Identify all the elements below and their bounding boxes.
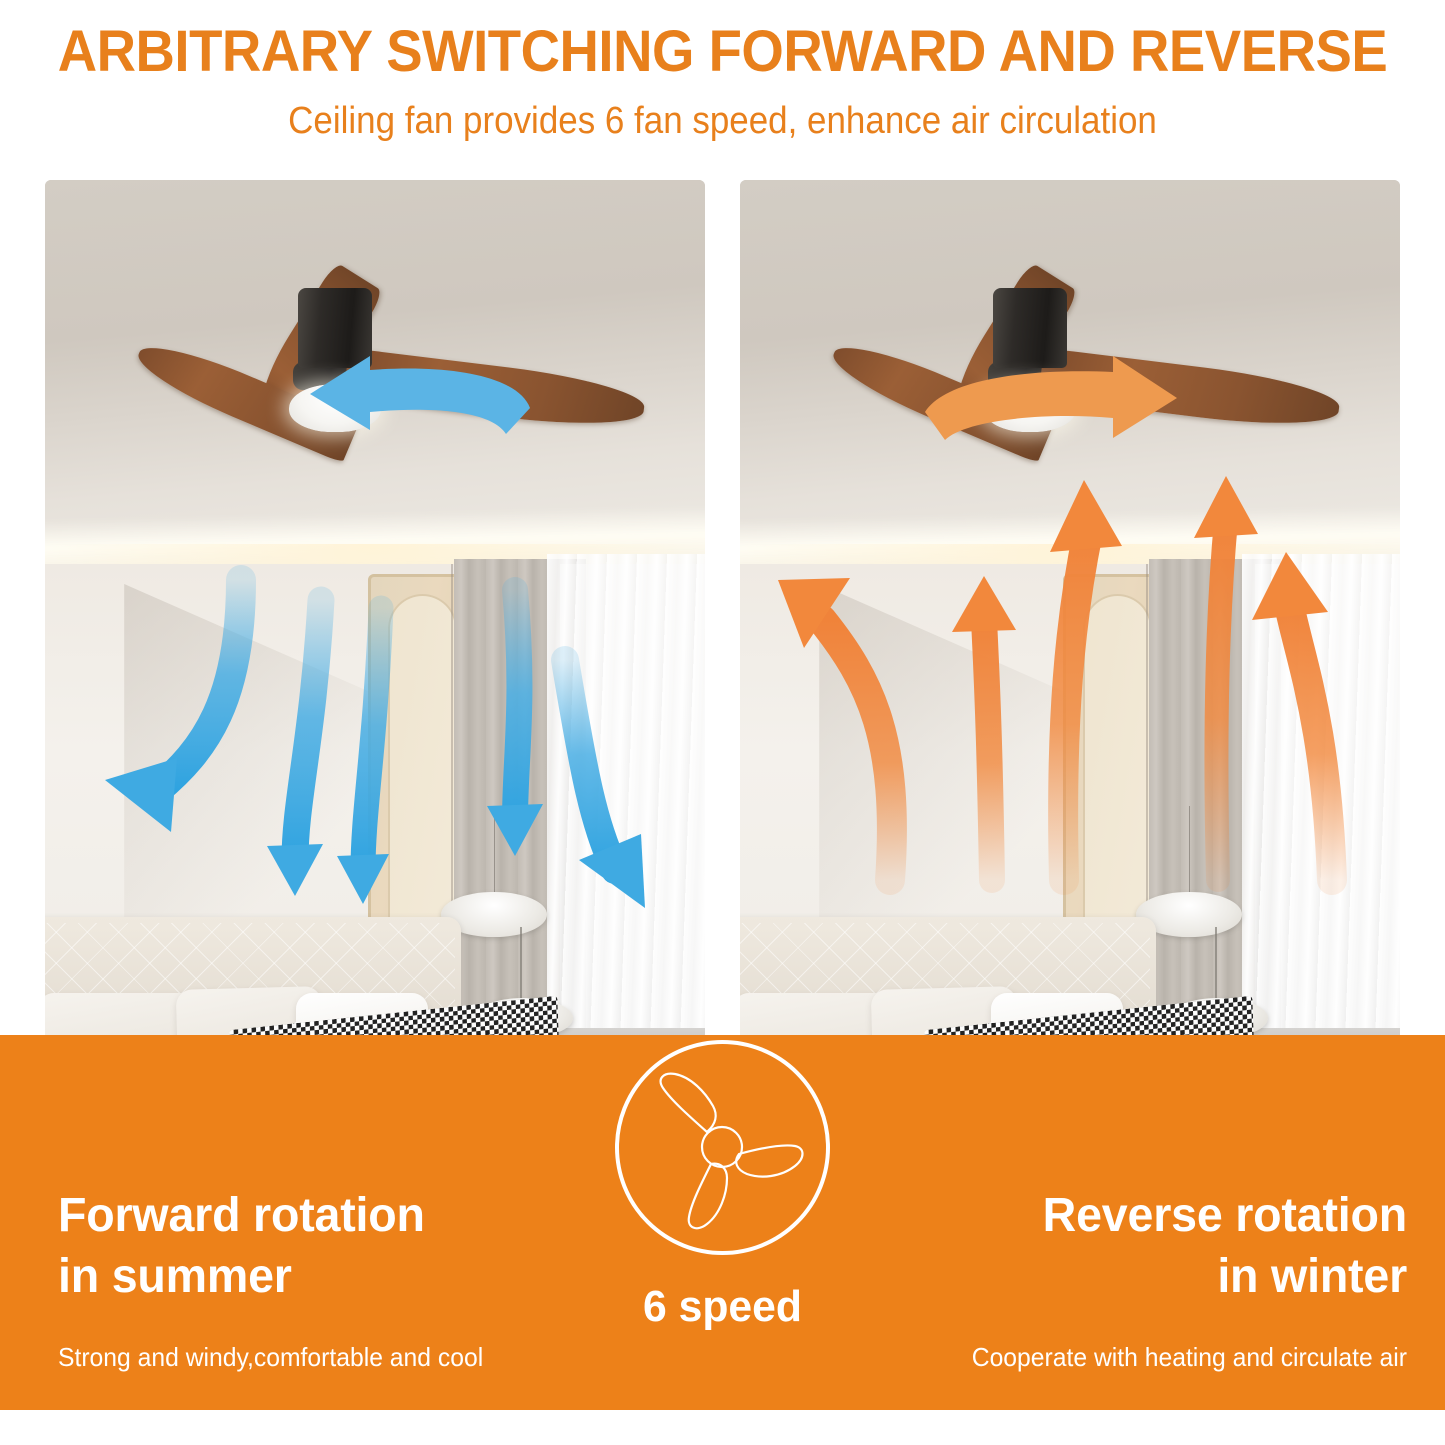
reverse-rotation-caption-block: Reverse rotation in winter Cooperate wit… [887, 1185, 1407, 1373]
page-title: ARBITRARY SWITCHING FORWARD AND REVERSE [43, 18, 1401, 85]
fan-blade-icon [619, 1044, 826, 1251]
speed-badge [615, 1040, 830, 1255]
forward-rotation-arrow-icon [200, 350, 550, 480]
pendant-cord-upper [1189, 806, 1191, 897]
page-subtitle: Ceiling fan provides 6 fan speed, enhanc… [58, 100, 1387, 143]
reverse-title-line1: Reverse rotation [903, 1185, 1407, 1246]
sheer-curtain [1242, 554, 1400, 1059]
pendant-cord-upper [494, 806, 496, 897]
pendant-cord-lower [1215, 927, 1217, 1008]
speed-label: 6 speed [22, 1282, 1424, 1332]
infographic-page: ARBITRARY SWITCHING FORWARD AND REVERSE … [0, 0, 1445, 1445]
forward-caption: Strong and windy,comfortable and cool [58, 1342, 552, 1373]
sheer-curtain [547, 554, 705, 1059]
forward-title-line1: Forward rotation [58, 1185, 562, 1246]
reverse-rotation-arrow-icon [905, 350, 1255, 480]
pendant-cord-lower [520, 927, 522, 1008]
reverse-caption: Cooperate with heating and circulate air [913, 1342, 1407, 1373]
forward-rotation-caption-block: Forward rotation in summer Strong and wi… [58, 1185, 578, 1373]
